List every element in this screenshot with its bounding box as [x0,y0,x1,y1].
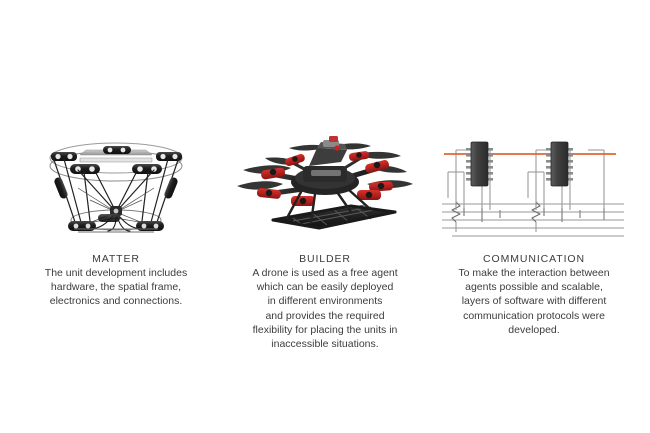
caption-matter: MATTER The unit development includes har… [20,252,212,309]
truss-frame-module-photo [20,128,212,248]
panel-title-matter: MATTER [20,252,212,266]
panel-communication: COMMUNICATION To make the interaction be… [438,128,630,337]
panel-body-builder: A drone is used as a free agent which ca… [229,266,421,351]
panel-body-communication: To make the interaction between agents p… [438,266,630,337]
caption-communication: COMMUNICATION To make the interaction be… [438,252,630,337]
ic-chip-2 [546,142,573,186]
panel-matter: MATTER The unit development includes har… [20,128,212,309]
panel-title-communication: COMMUNICATION [438,252,630,266]
panel-title-builder: BUILDER [229,252,421,266]
quadcopter-drone-photo [229,128,421,248]
panel-body-matter: The unit development includes hardware, … [20,266,212,309]
slide-canvas: MATTER The unit development includes har… [0,0,650,433]
panel-builder: BUILDER A drone is used as a free agent … [229,128,421,351]
circuit-schematic-diagram [438,128,630,248]
caption-builder: BUILDER A drone is used as a free agent … [229,252,421,351]
panel-row: MATTER The unit development includes har… [20,128,630,351]
ic-chip-1 [466,142,493,186]
